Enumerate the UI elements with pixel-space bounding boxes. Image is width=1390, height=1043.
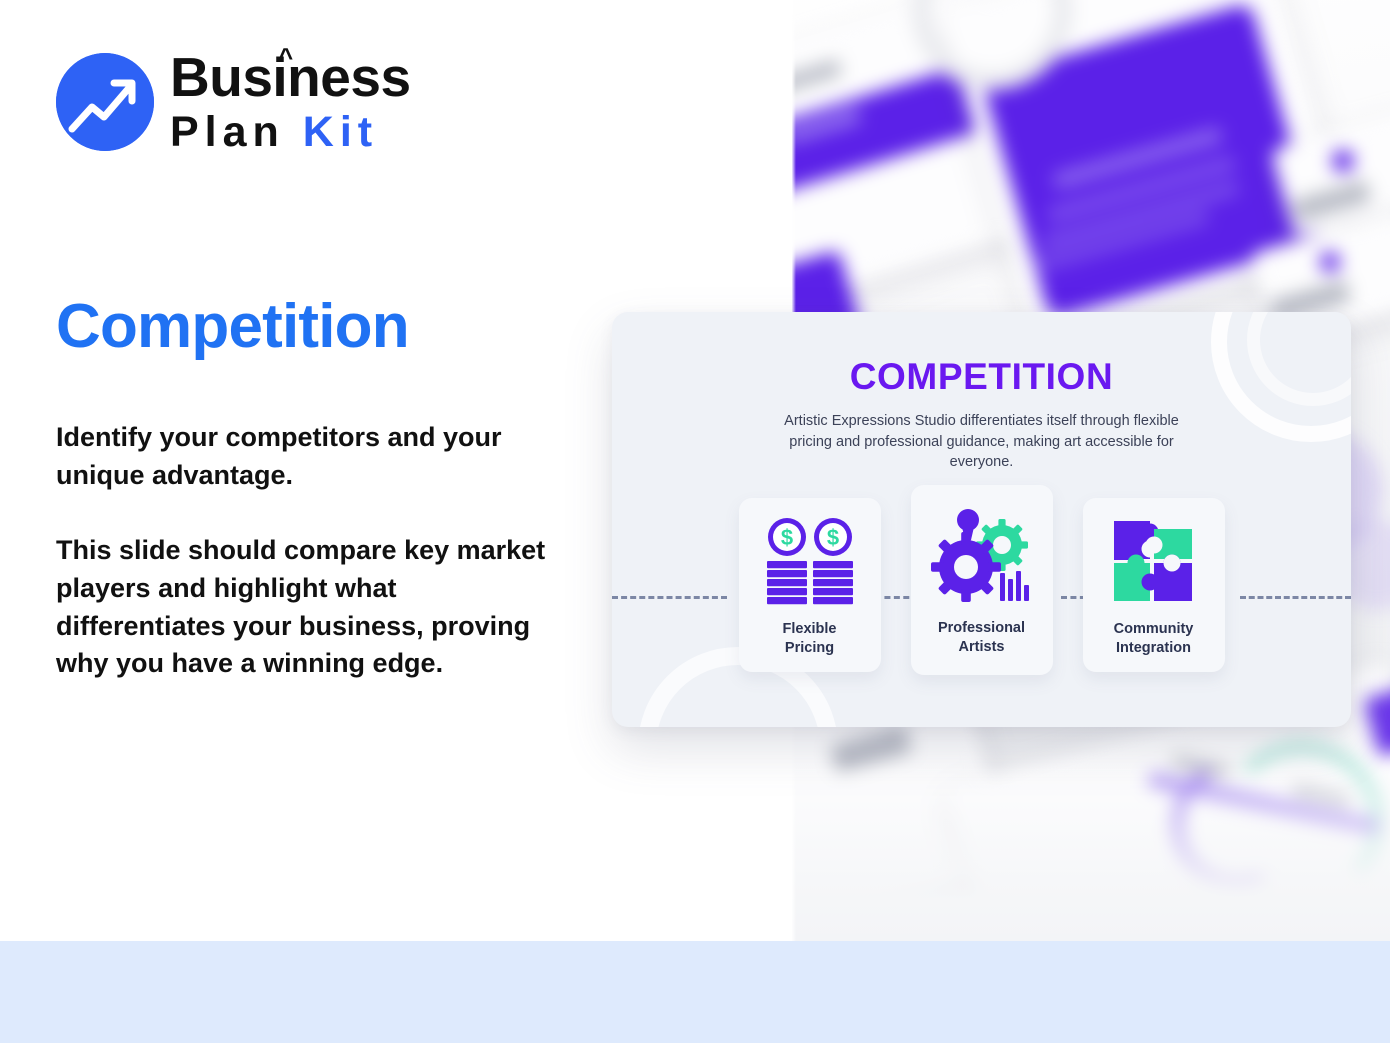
tile-community-integration[interactable]: Community Integration xyxy=(1083,498,1225,672)
brand-circumflex-accent: ^ xyxy=(278,44,293,70)
tile-label-flexible-pricing: Flexible Pricing xyxy=(783,620,837,658)
growth-arrow-chart-icon xyxy=(56,53,154,151)
tile-label-line1: Professional xyxy=(938,620,1025,636)
tile-label-line2: Integration xyxy=(1116,640,1191,656)
slide-preview-title: COMPETITION xyxy=(612,356,1351,398)
brand-text-kit: Kit xyxy=(303,108,378,156)
slide-preview-subtitle: Artistic Expressions Studio differentiat… xyxy=(772,411,1192,473)
svg-text:$: $ xyxy=(780,525,792,550)
stacked-coins-dollar-icon: $ $ xyxy=(760,514,860,610)
puzzle-pieces-icon xyxy=(1106,514,1202,610)
tile-professional-artists[interactable]: Professional Artists xyxy=(911,485,1053,675)
bottom-accent-bar xyxy=(0,941,1390,1043)
tile-label-professional-artists: Professional Artists xyxy=(938,619,1025,657)
slide-page: Business ^ Plan Kit Competition Identify… xyxy=(0,0,1390,1043)
brand-logo: Business ^ Plan Kit xyxy=(56,50,411,154)
slide-preview-card[interactable]: COMPETITION Artistic Expressions Studio … xyxy=(612,312,1351,727)
body-paragraph: This slide should compare key market pla… xyxy=(56,532,566,683)
feature-tiles: $ $ xyxy=(612,498,1351,675)
tile-label-community-integration: Community Integration xyxy=(1114,620,1194,658)
tile-flexible-pricing[interactable]: $ $ xyxy=(739,498,881,672)
brand-line-plan-kit: Plan Kit xyxy=(170,111,411,154)
brand-wordmark: Business ^ Plan Kit xyxy=(170,50,411,154)
gears-lightbulb-bar-chart-icon xyxy=(930,505,1034,609)
tile-label-line1: Community xyxy=(1114,621,1194,637)
tile-label-line1: Flexible xyxy=(783,621,837,637)
lead-paragraph: Identify your competitors and your uniqu… xyxy=(56,418,576,495)
tile-label-line2: Artists xyxy=(959,639,1005,655)
brand-text-plan: Plan xyxy=(170,108,285,156)
tile-label-line2: Pricing xyxy=(785,640,834,656)
panel-bottom-fade xyxy=(792,761,1390,941)
brand-line-business: Business ^ xyxy=(170,50,411,105)
svg-text:$: $ xyxy=(826,525,838,550)
page-title: Competition xyxy=(56,294,409,359)
